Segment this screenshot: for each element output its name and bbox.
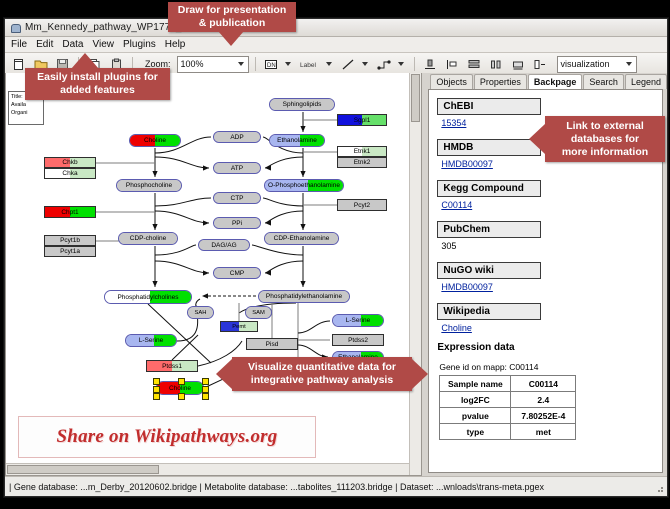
resize-grip-icon[interactable]	[653, 482, 665, 494]
statusbar: | Gene database: ...m_Derby_20120602.bri…	[5, 476, 667, 496]
callout-visualize: Visualize quantitative data forintegrati…	[232, 357, 412, 391]
label-icon[interactable]: Label	[298, 55, 322, 74]
backpage-head-pubchem: PubChem	[437, 221, 541, 238]
callout-plugins-arrow-icon	[71, 53, 99, 69]
node-label: Ptdss2	[348, 337, 368, 344]
visualization-combobox[interactable]: visualization	[557, 56, 637, 73]
expr-val-sample-name: C00114	[511, 376, 576, 392]
align-bottom-icon[interactable]	[421, 55, 440, 74]
node-label: CDP-Ethanolamine	[274, 235, 330, 242]
gene-node-sgpl1[interactable]: Sgpl1	[337, 114, 387, 126]
chevron-down-icon	[626, 62, 632, 66]
menubar: File Edit Data View Plugins Help	[5, 37, 667, 53]
menu-item-view[interactable]: View	[92, 39, 114, 50]
gene-node-ptdss1[interactable]: Ptdss1	[146, 360, 198, 372]
menu-item-plugins[interactable]: Plugins	[123, 39, 156, 50]
node-label: O-Phosphoethanolamine	[268, 182, 340, 189]
selection-handle[interactable]	[153, 378, 160, 385]
expression-table: Sample name C00114 log2FC 2.4 pvalue 7.8…	[439, 375, 576, 440]
expr-key-log2fc: log2FC	[440, 392, 511, 408]
table-row: log2FC 2.4	[440, 392, 576, 408]
table-row: pvalue 7.80252E-4	[440, 408, 576, 424]
metabolite-node-sah[interactable]: SAH	[187, 306, 214, 319]
expression-data-title: Expression data	[437, 342, 654, 353]
node-label: Phosphatidylcholines	[117, 294, 178, 301]
menu-item-file[interactable]: File	[11, 39, 27, 50]
gene-id-line: Gene id on mapp: C00114	[439, 362, 654, 372]
backpage-head-hmdb: HMDB	[437, 139, 541, 156]
node-label: DAG/AG	[211, 242, 236, 249]
data-node-icon[interactable]: DN	[262, 55, 281, 74]
node-label: Phosphatidylethanolamine	[266, 293, 342, 300]
svg-text:DN: DN	[267, 63, 276, 69]
expr-val-pvalue: 7.80252E-4	[511, 408, 576, 424]
node-label: Pcyt2	[354, 202, 370, 209]
callout-links-text: Link to externaldatabases formore inform…	[562, 120, 648, 159]
canvas-hscroll-thumb[interactable]	[7, 465, 159, 474]
node-label: Etnk1	[354, 148, 371, 155]
node-label: Pisd	[266, 341, 279, 348]
tab-properties[interactable]: Properties	[474, 74, 527, 89]
tab-search[interactable]: Search	[583, 74, 624, 89]
metabolite-node-choline[interactable]: Choline	[129, 134, 181, 147]
gene-node-pcyt2[interactable]: Pcyt2	[337, 199, 387, 211]
metabolite-node-o-phosphoethanolamine[interactable]: O-Phosphoethanolamine	[264, 179, 344, 192]
node-label: CTP	[231, 195, 244, 202]
table-row: type met	[440, 424, 576, 440]
menu-item-data[interactable]: Data	[62, 39, 83, 50]
callout-visualize-text: Visualize quantitative data forintegrati…	[248, 361, 396, 387]
metabolite-node-phosphatidylethanolamine[interactable]: Phosphatidylethanolamine	[258, 290, 350, 303]
data-node-dropdown-icon[interactable]	[284, 58, 295, 71]
node-label: ATP	[231, 165, 243, 172]
tab-legend[interactable]: Legend	[625, 74, 667, 89]
zoom-combobox[interactable]: 100%	[177, 56, 249, 73]
gene-node-pcyt1b[interactable]: Pcyt1b	[44, 235, 96, 246]
metabolite-node-ethanolamine[interactable]: Ethanolamine	[269, 134, 325, 147]
expr-key-sample-name: Sample name	[440, 376, 511, 392]
selection-handle[interactable]	[153, 386, 160, 393]
visualization-value: visualization	[561, 59, 610, 69]
callout-plugins: Easily install plugins foradded features	[25, 68, 170, 100]
metabolite-node-ppi[interactable]: PPi	[213, 217, 261, 229]
tab-backpage[interactable]: Backpage	[528, 74, 583, 90]
backpage-head-kegg: Kegg Compound	[437, 180, 541, 197]
metabolite-node-l-serine[interactable]: L-Serine	[125, 334, 177, 347]
node-label: Sgpl1	[354, 117, 371, 124]
metabolite-node-phosphocholine[interactable]: Phosphocholine	[116, 179, 182, 192]
backpage-head-nugo: NuGO wiki	[437, 262, 541, 279]
metabolite-node-cmp[interactable]: CMP	[213, 267, 261, 279]
tab-objects[interactable]: Objects	[430, 74, 473, 89]
side-panel-tabs: Objects Properties Backpage Search Legen…	[422, 73, 667, 89]
node-label: ADP	[230, 134, 243, 141]
node-label: Choline	[169, 385, 191, 392]
expr-val-type: met	[511, 424, 576, 440]
callout-share-text: Share on Wikipathways.org	[57, 426, 278, 448]
gene-node-ptdss2[interactable]: Ptdss2	[332, 334, 384, 346]
order-icon[interactable]	[531, 55, 550, 74]
distribute-icon[interactable]	[465, 55, 484, 74]
canvas-vscrollbar[interactable]	[409, 73, 421, 475]
metabolite-node-cdp-ethanolamine[interactable]: CDP-Ethanolamine	[264, 232, 339, 245]
callout-share: Share on Wikipathways.org	[18, 416, 316, 458]
node-label: Choline	[144, 137, 166, 144]
callout-visualize-arrow-icon	[216, 359, 232, 389]
gene-node-pemt[interactable]: Pemt	[220, 321, 258, 332]
node-label: CMP	[230, 270, 244, 277]
callout-visualize-arrow-right-icon	[412, 359, 428, 389]
backpage-link-wikipedia[interactable]: Choline	[441, 323, 654, 333]
node-label: Chpt1	[61, 209, 78, 216]
node-label: CDP-choline	[130, 235, 167, 242]
selection-handle[interactable]	[202, 378, 209, 385]
backpage-head-wikipedia: Wikipedia	[437, 303, 541, 320]
node-label: Sphingolipids	[283, 101, 322, 108]
expr-key-pvalue: pvalue	[440, 408, 511, 424]
gene-node-chpt1[interactable]: Chpt1	[44, 206, 96, 218]
connector-icon[interactable]	[375, 55, 394, 74]
chevron-down-icon	[238, 62, 244, 66]
callout-draw-text: Draw for presentation& publication	[178, 4, 287, 30]
gene-node-chka[interactable]: Chka	[44, 168, 96, 179]
node-label: PPi	[232, 220, 242, 227]
expr-key-type: type	[440, 424, 511, 440]
metabolite-node-atp[interactable]: ATP	[213, 162, 261, 174]
screenshot-root: Mm_Kennedy_pathway_WP1771_45176.gpml Fil…	[0, 0, 670, 509]
canvas-hscrollbar[interactable]	[6, 463, 421, 475]
metabolite-node-dag-ag[interactable]: DAG/AG	[198, 239, 250, 251]
node-label: SAH	[195, 310, 207, 316]
node-label: Pcyt1b	[60, 237, 80, 244]
size-icon[interactable]	[487, 55, 506, 74]
node-label: Pemt	[232, 324, 246, 330]
toolbar-separator	[255, 57, 256, 71]
status-text: | Gene database: ...m_Derby_20120602.bri…	[5, 482, 544, 492]
selection-handle[interactable]	[202, 386, 209, 393]
metabolite-node-sam[interactable]: SAM	[245, 306, 272, 319]
node-label: Etnk2	[354, 159, 371, 166]
backpage-head-chebi: ChEBI	[437, 98, 541, 115]
node-label: L-Serine	[346, 317, 371, 324]
gene-node-pisd[interactable]: Pisd	[246, 338, 298, 350]
line-icon[interactable]	[339, 55, 358, 74]
gene-node-pcyt1a[interactable]: Pcyt1a	[44, 246, 96, 257]
node-label: Phosphocholine	[126, 182, 172, 189]
callout-draw: Draw for presentation& publication	[168, 2, 296, 32]
callout-draw-arrow-icon	[218, 31, 244, 46]
node-label: Chkb	[62, 159, 77, 166]
menu-item-help[interactable]: Help	[165, 39, 186, 50]
node-label: L-Serine	[139, 337, 164, 344]
info-line-organism: Organi	[11, 109, 41, 117]
line-dropdown-icon[interactable]	[361, 58, 372, 71]
menu-item-edit[interactable]: Edit	[36, 39, 53, 50]
backpage-link-nugo[interactable]: HMDB00097	[441, 282, 654, 292]
label-dropdown-icon[interactable]	[325, 58, 336, 71]
canvas-vscroll-thumb[interactable]	[411, 74, 420, 122]
node-label: SAM	[252, 310, 265, 316]
metabolite-node-phosphatidylcholines[interactable]: Phosphatidylcholines	[104, 290, 192, 304]
table-row: Sample name C00114	[440, 376, 576, 392]
info-line-availab: Availa	[11, 101, 41, 109]
align-left-icon[interactable]	[443, 55, 462, 74]
backpage-value-pubchem: 305	[441, 241, 654, 251]
selection-handle[interactable]	[202, 393, 209, 400]
gene-node-etnk2[interactable]: Etnk2	[337, 157, 387, 168]
toolbar-separator	[414, 57, 415, 71]
group-icon[interactable]	[509, 55, 528, 74]
metabolite-node-ctp[interactable]: CTP	[213, 192, 261, 204]
zoom-value: 100%	[181, 59, 204, 69]
metabolite-node-sphingolipids[interactable]: Sphingolipids	[269, 98, 335, 111]
pathway-diagram[interactable]: Title: Availa Organi SphingolipidsCholin…	[6, 73, 421, 475]
callout-links-arrow-icon	[529, 124, 545, 154]
svg-text:Label: Label	[300, 62, 316, 69]
node-label: Chka	[62, 170, 77, 177]
node-label: Ethanolamine	[277, 137, 317, 144]
callout-plugins-text: Easily install plugins foradded features	[37, 71, 158, 97]
gene-node-chkb[interactable]: Chkb	[44, 157, 96, 168]
metabolite-node-l-serine[interactable]: L-Serine	[332, 314, 384, 327]
metabolite-node-adp[interactable]: ADP	[213, 131, 261, 143]
selection-handle[interactable]	[178, 393, 185, 400]
connector-dropdown-icon[interactable]	[397, 58, 408, 71]
node-label: Pcyt1a	[60, 248, 80, 255]
node-label: Ptdss1	[162, 363, 182, 370]
selection-handle[interactable]	[153, 393, 160, 400]
application-icon	[10, 22, 21, 33]
metabolite-node-cdp-choline[interactable]: CDP-choline	[118, 232, 178, 245]
callout-links: Link to externaldatabases formore inform…	[545, 116, 665, 162]
window-titlebar: Mm_Kennedy_pathway_WP1771_45176.gpml	[5, 19, 667, 37]
backpage-link-kegg[interactable]: C00114	[441, 200, 654, 210]
expr-val-log2fc: 2.4	[511, 392, 576, 408]
gene-node-etnk1[interactable]: Etnk1	[337, 146, 387, 157]
